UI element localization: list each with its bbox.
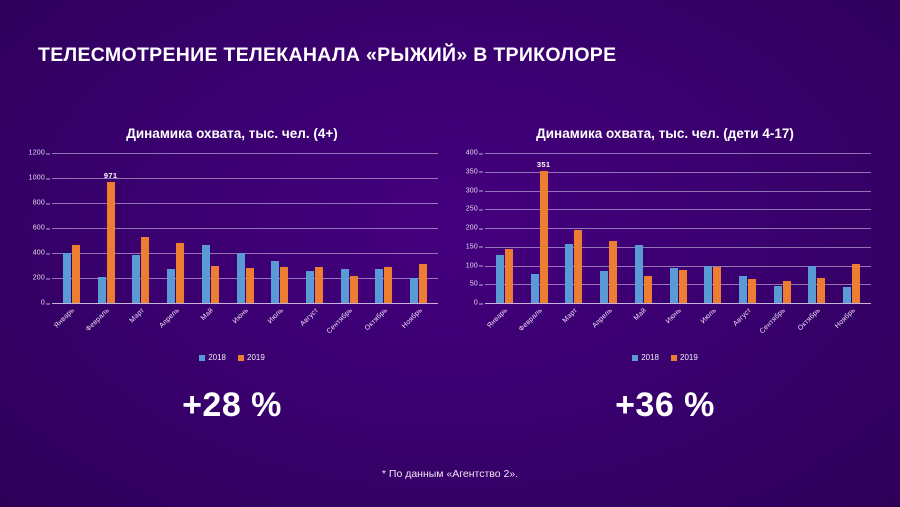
bar-2018 xyxy=(739,276,747,303)
x-axis-cell: Апрель xyxy=(591,303,626,347)
x-axis-cell: Май xyxy=(193,303,228,347)
legend-item-2019[interactable]: 2019 xyxy=(238,353,265,362)
bar-group xyxy=(695,153,730,303)
y-axis-4plus: 020040060080010001200 xyxy=(22,153,50,303)
bar-2019 xyxy=(574,230,582,304)
x-axis-cell: Март xyxy=(556,303,591,347)
plot-area-children: 050100150200250300350400 351 xyxy=(485,153,871,303)
bar-group xyxy=(297,153,332,303)
x-tick-label: Октябрь xyxy=(797,307,822,332)
y-tick-label: 350 xyxy=(466,168,478,175)
legend-4plus: 20182019 xyxy=(22,353,442,362)
x-axis-cell: Февраль xyxy=(89,303,124,347)
bar-2019 xyxy=(280,267,288,303)
bar-2018 xyxy=(843,287,851,303)
x-tick-label: Август xyxy=(299,307,320,328)
bar-group xyxy=(730,153,765,303)
x-tick-label: Ноябрь xyxy=(401,307,424,330)
bar-2018 xyxy=(375,269,383,303)
bar-2018 xyxy=(237,253,245,303)
y-tick-label: 200 xyxy=(466,225,478,232)
bar-group xyxy=(193,153,228,303)
y-axis-children: 050100150200250300350400 xyxy=(455,153,483,303)
y-tick-label: 50 xyxy=(470,281,478,288)
y-tick-label: 150 xyxy=(466,243,478,250)
bar-2019 xyxy=(505,249,513,303)
x-tick-label: Апрель xyxy=(158,307,181,330)
legend-label: 2019 xyxy=(247,353,265,362)
y-tick-label: 800 xyxy=(33,200,45,207)
bar-group xyxy=(834,153,869,303)
bar-2019 xyxy=(350,276,358,303)
bar-group: 971 xyxy=(89,153,124,303)
bar-2019 xyxy=(852,264,860,303)
y-tick-label: 250 xyxy=(466,206,478,213)
x-tick-label: Август xyxy=(732,307,753,328)
bar-2018 xyxy=(63,253,71,303)
bar-group xyxy=(123,153,158,303)
x-axis-cell: Январь xyxy=(54,303,89,347)
x-tick-label: Май xyxy=(200,307,215,322)
legend-label: 2018 xyxy=(641,353,659,362)
y-tick-label: 100 xyxy=(466,262,478,269)
bar-group xyxy=(556,153,591,303)
y-tick-label: 1200 xyxy=(29,150,45,157)
bar-group xyxy=(367,153,402,303)
x-tick-label: Март xyxy=(128,307,145,324)
bar-2019 xyxy=(315,267,323,303)
bar-2019 xyxy=(748,279,756,303)
legend-item-2018[interactable]: 2018 xyxy=(632,353,659,362)
x-axis-4plus: ЯнварьФевральМартАпрельМайИюньИюльАвгуст… xyxy=(52,303,438,347)
legend-children: 20182019 xyxy=(455,353,875,362)
x-tick-label: Февраль xyxy=(85,307,111,333)
plot-area-4plus: 020040060080010001200 971 xyxy=(52,153,438,303)
x-axis-cell: Июль xyxy=(695,303,730,347)
page-title: ТЕЛЕСМОТРЕНИЕ ТЕЛЕКАНАЛА «РЫЖИЙ» В ТРИКО… xyxy=(38,44,616,67)
growth-value-4plus: +28 % xyxy=(22,386,442,425)
bar-2019 xyxy=(609,241,617,303)
bar-2018 xyxy=(410,278,418,303)
x-tick-label: Апрель xyxy=(591,307,614,330)
bar-2018 xyxy=(704,266,712,304)
bar-group xyxy=(228,153,263,303)
bar-2018 xyxy=(531,274,539,303)
x-axis-cell: Ноябрь xyxy=(834,303,869,347)
x-axis-cell: Июнь xyxy=(661,303,696,347)
y-tick-label: 300 xyxy=(466,187,478,194)
y-tick-label: 0 xyxy=(41,300,45,307)
bar-group xyxy=(487,153,522,303)
x-tick-label: Июль xyxy=(267,307,285,325)
bar-group xyxy=(661,153,696,303)
legend-item-2018[interactable]: 2018 xyxy=(199,353,226,362)
y-tick-label: 400 xyxy=(33,250,45,257)
x-tick-label: Январь xyxy=(54,307,77,330)
x-axis-cell: Сентябрь xyxy=(765,303,800,347)
bar-2018 xyxy=(496,255,504,303)
x-axis-cell: Август xyxy=(297,303,332,347)
x-axis-cell: Август xyxy=(730,303,765,347)
bar-2019: 351 xyxy=(540,171,548,303)
bar-2018 xyxy=(271,261,279,303)
slide-root: ТЕЛЕСМОТРЕНИЕ ТЕЛЕКАНАЛА «РЫЖИЙ» В ТРИКО… xyxy=(0,0,900,507)
chart-panel-children: Динамика охвата, тыс. чел. (дети 4-17) 0… xyxy=(455,125,875,395)
y-tick-label: 400 xyxy=(466,150,478,157)
bar-group: 351 xyxy=(522,153,557,303)
x-tick-label: Январь xyxy=(487,307,510,330)
chart-title-children: Динамика охвата, тыс. чел. (дети 4-17) xyxy=(455,125,875,143)
x-axis-cell: Октябрь xyxy=(367,303,402,347)
bar-2018 xyxy=(774,286,782,303)
x-tick-label: Февраль xyxy=(518,307,544,333)
x-axis-cell: Май xyxy=(626,303,661,347)
bar-2019: 971 xyxy=(107,182,115,303)
bar-2019 xyxy=(211,266,219,304)
bar-2019 xyxy=(783,281,791,303)
y-tick-label: 200 xyxy=(33,275,45,282)
bar-group xyxy=(800,153,835,303)
bar-value-label: 971 xyxy=(104,171,117,180)
bar-2019 xyxy=(644,276,652,303)
x-tick-label: Июнь xyxy=(665,307,683,325)
bar-2018 xyxy=(565,244,573,303)
bar-2019 xyxy=(713,267,721,303)
bar-2019 xyxy=(419,264,427,303)
bar-2018 xyxy=(600,271,608,303)
bar-group xyxy=(591,153,626,303)
bar-group xyxy=(765,153,800,303)
bar-2018 xyxy=(132,255,140,303)
legend-label: 2018 xyxy=(208,353,226,362)
chart-title-4plus: Динамика охвата, тыс. чел. (4+) xyxy=(22,125,442,143)
bar-2019 xyxy=(141,237,149,303)
bar-groups-children: 351 xyxy=(485,153,871,303)
bar-2019 xyxy=(817,278,825,303)
bar-group xyxy=(332,153,367,303)
bar-2018 xyxy=(341,269,349,303)
bar-2019 xyxy=(384,267,392,303)
x-axis-cell: Апрель xyxy=(158,303,193,347)
bar-group xyxy=(54,153,89,303)
x-tick-label: Март xyxy=(561,307,578,324)
bar-2018 xyxy=(635,245,643,303)
legend-item-2019[interactable]: 2019 xyxy=(671,353,698,362)
bar-2019 xyxy=(176,243,184,303)
bar-value-label: 351 xyxy=(537,160,550,169)
y-tick-label: 0 xyxy=(474,300,478,307)
x-tick-label: Октябрь xyxy=(364,307,389,332)
bar-groups-4plus: 971 xyxy=(52,153,438,303)
bar-2019 xyxy=(246,268,254,303)
x-axis-cell: Январь xyxy=(487,303,522,347)
x-axis-cell: Ноябрь xyxy=(401,303,436,347)
legend-swatch-icon xyxy=(199,355,205,361)
footnote: * По данным «Агентство 2». xyxy=(0,468,900,480)
x-tick-label: Июль xyxy=(700,307,718,325)
x-tick-label: Май xyxy=(633,307,648,322)
x-axis-cell: Март xyxy=(123,303,158,347)
bar-2019 xyxy=(679,270,687,303)
bar-2018 xyxy=(98,277,106,303)
bar-2018 xyxy=(670,268,678,303)
bar-2018 xyxy=(167,269,175,303)
legend-label: 2019 xyxy=(680,353,698,362)
bar-2018 xyxy=(808,266,816,304)
bar-group xyxy=(158,153,193,303)
x-axis-cell: Февраль xyxy=(522,303,557,347)
chart-panel-4plus: Динамика охвата, тыс. чел. (4+) 02004006… xyxy=(22,125,442,395)
x-tick-label: Ноябрь xyxy=(834,307,857,330)
y-tick-label: 600 xyxy=(33,225,45,232)
y-tick-label: 1000 xyxy=(29,175,45,182)
bar-2018 xyxy=(306,271,314,303)
bar-group xyxy=(401,153,436,303)
legend-swatch-icon xyxy=(632,355,638,361)
growth-value-children: +36 % xyxy=(455,386,875,425)
x-axis-cell: Октябрь xyxy=(800,303,835,347)
x-tick-label: Июнь xyxy=(232,307,250,325)
x-axis-cell: Июль xyxy=(262,303,297,347)
legend-swatch-icon xyxy=(238,355,244,361)
x-axis-children: ЯнварьФевральМартАпрельМайИюньИюльАвгуст… xyxy=(485,303,871,347)
bar-group xyxy=(626,153,661,303)
x-axis-cell: Сентябрь xyxy=(332,303,367,347)
bar-2019 xyxy=(72,245,80,303)
x-axis-cell: Июнь xyxy=(228,303,263,347)
legend-swatch-icon xyxy=(671,355,677,361)
bar-group xyxy=(262,153,297,303)
bar-2018 xyxy=(202,245,210,303)
